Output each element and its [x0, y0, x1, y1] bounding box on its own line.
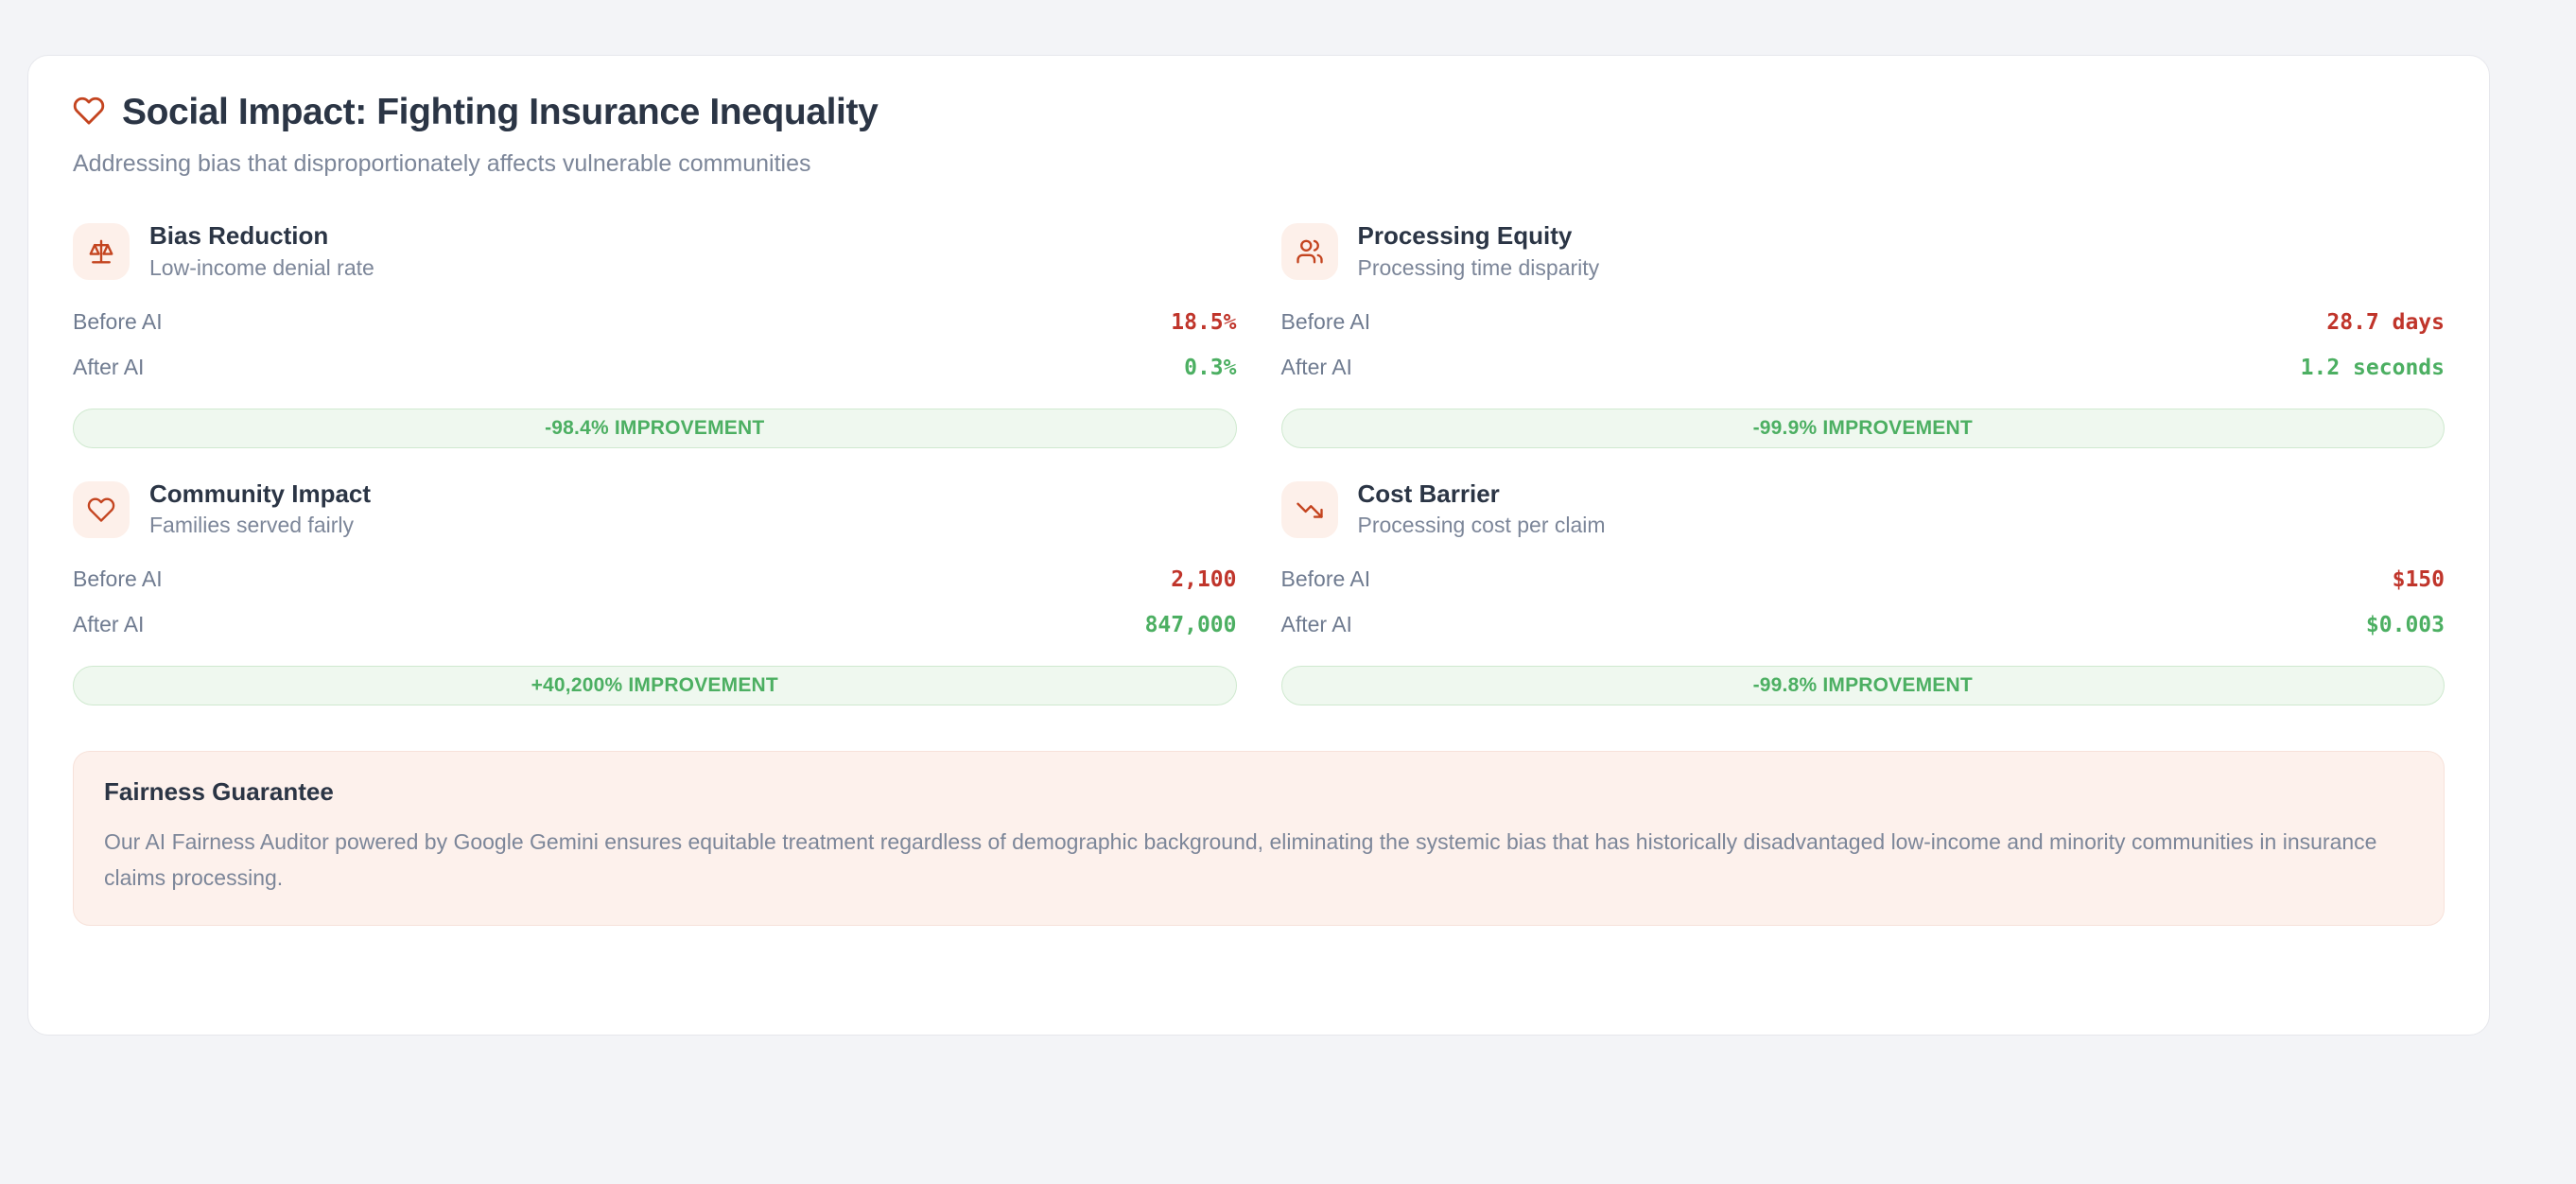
scales-balance-icon [73, 223, 130, 280]
trending-down-icon [1281, 481, 1338, 538]
metric-header: Cost Barrier Processing cost per claim [1281, 480, 2445, 539]
metric-after-value: 0.3% [1184, 356, 1236, 380]
metric-after-value: $0.003 [2366, 613, 2445, 637]
improvement-badge: -99.8% IMPROVEMENT [1281, 666, 2445, 705]
heart-icon [73, 481, 130, 538]
metric-row-before: Before AI 28.7 days [1281, 306, 2445, 352]
metric-row-after: After AI $0.003 [1281, 609, 2445, 654]
metric-description: Low-income denial rate [149, 255, 374, 282]
metric-row-before: Before AI $150 [1281, 564, 2445, 609]
metric-titles: Processing Equity Processing time dispar… [1358, 222, 1600, 281]
improvement-badge: +40,200% IMPROVEMENT [73, 666, 1237, 705]
metric-titles: Bias Reduction Low-income denial rate [149, 222, 374, 281]
fairness-guarantee-box: Fairness Guarantee Our AI Fairness Audit… [73, 751, 2445, 926]
metric-row-after: After AI 0.3% [73, 352, 1237, 397]
metric-description: Processing time disparity [1358, 255, 1600, 282]
panel-header: Social Impact: Fighting Insurance Inequa… [73, 92, 2445, 179]
metric-row-after: After AI 847,000 [73, 609, 1237, 654]
metric-titles: Cost Barrier Processing cost per claim [1358, 480, 1606, 539]
metric-name: Bias Reduction [149, 222, 374, 251]
metric-before-value: 2,100 [1171, 567, 1236, 592]
metric-row-label: After AI [1281, 355, 1352, 380]
title-row: Social Impact: Fighting Insurance Inequa… [73, 92, 2445, 134]
metric-titles: Community Impact Families served fairly [149, 480, 371, 539]
metric-row-label: Before AI [73, 309, 163, 335]
social-impact-panel: Social Impact: Fighting Insurance Inequa… [27, 55, 2490, 1036]
metric-before-value: $150 [2393, 567, 2445, 592]
fairness-guarantee-title: Fairness Guarantee [104, 777, 2413, 807]
metric-description: Families served fairly [149, 513, 371, 539]
metric-after-value: 847,000 [1145, 613, 1237, 637]
page-title: Social Impact: Fighting Insurance Inequa… [122, 92, 878, 134]
metric-after-value: 1.2 seconds [2301, 356, 2445, 380]
metric-name: Community Impact [149, 480, 371, 509]
fairness-guarantee-body: Our AI Fairness Auditor powered by Googl… [104, 825, 2411, 896]
metric-before-value: 18.5% [1171, 310, 1236, 335]
metric-name: Cost Barrier [1358, 480, 1606, 509]
metric-row-before: Before AI 18.5% [73, 306, 1237, 352]
metric-card-processing-equity: Processing Equity Processing time dispar… [1281, 222, 2445, 479]
metric-card-community-impact: Community Impact Families served fairly … [73, 480, 1237, 738]
metric-row-label: Before AI [73, 566, 163, 592]
metric-row-label: Before AI [1281, 566, 1371, 592]
metric-header: Community Impact Families served fairly [73, 480, 1237, 539]
improvement-badge: -98.4% IMPROVEMENT [73, 409, 1237, 448]
metric-card-cost-barrier: Cost Barrier Processing cost per claim B… [1281, 480, 2445, 738]
metric-row-label: Before AI [1281, 309, 1371, 335]
metric-card-bias-reduction: Bias Reduction Low-income denial rate Be… [73, 222, 1237, 479]
page-subtitle: Addressing bias that disproportionately … [73, 149, 2445, 179]
metric-row-before: Before AI 2,100 [73, 564, 1237, 609]
improvement-badge: -99.9% IMPROVEMENT [1281, 409, 2445, 448]
metric-name: Processing Equity [1358, 222, 1600, 251]
page-root: Social Impact: Fighting Insurance Inequa… [0, 0, 2576, 1184]
metric-row-label: After AI [73, 612, 144, 637]
metric-header: Processing Equity Processing time dispar… [1281, 222, 2445, 281]
metrics-grid: Bias Reduction Low-income denial rate Be… [73, 222, 2445, 738]
metric-before-value: 28.7 days [2326, 310, 2445, 335]
metric-row-after: After AI 1.2 seconds [1281, 352, 2445, 397]
metric-description: Processing cost per claim [1358, 513, 1606, 539]
heart-icon [73, 95, 105, 131]
metric-header: Bias Reduction Low-income denial rate [73, 222, 1237, 281]
metric-row-label: After AI [1281, 612, 1352, 637]
metric-row-label: After AI [73, 355, 144, 380]
users-icon [1281, 223, 1338, 280]
